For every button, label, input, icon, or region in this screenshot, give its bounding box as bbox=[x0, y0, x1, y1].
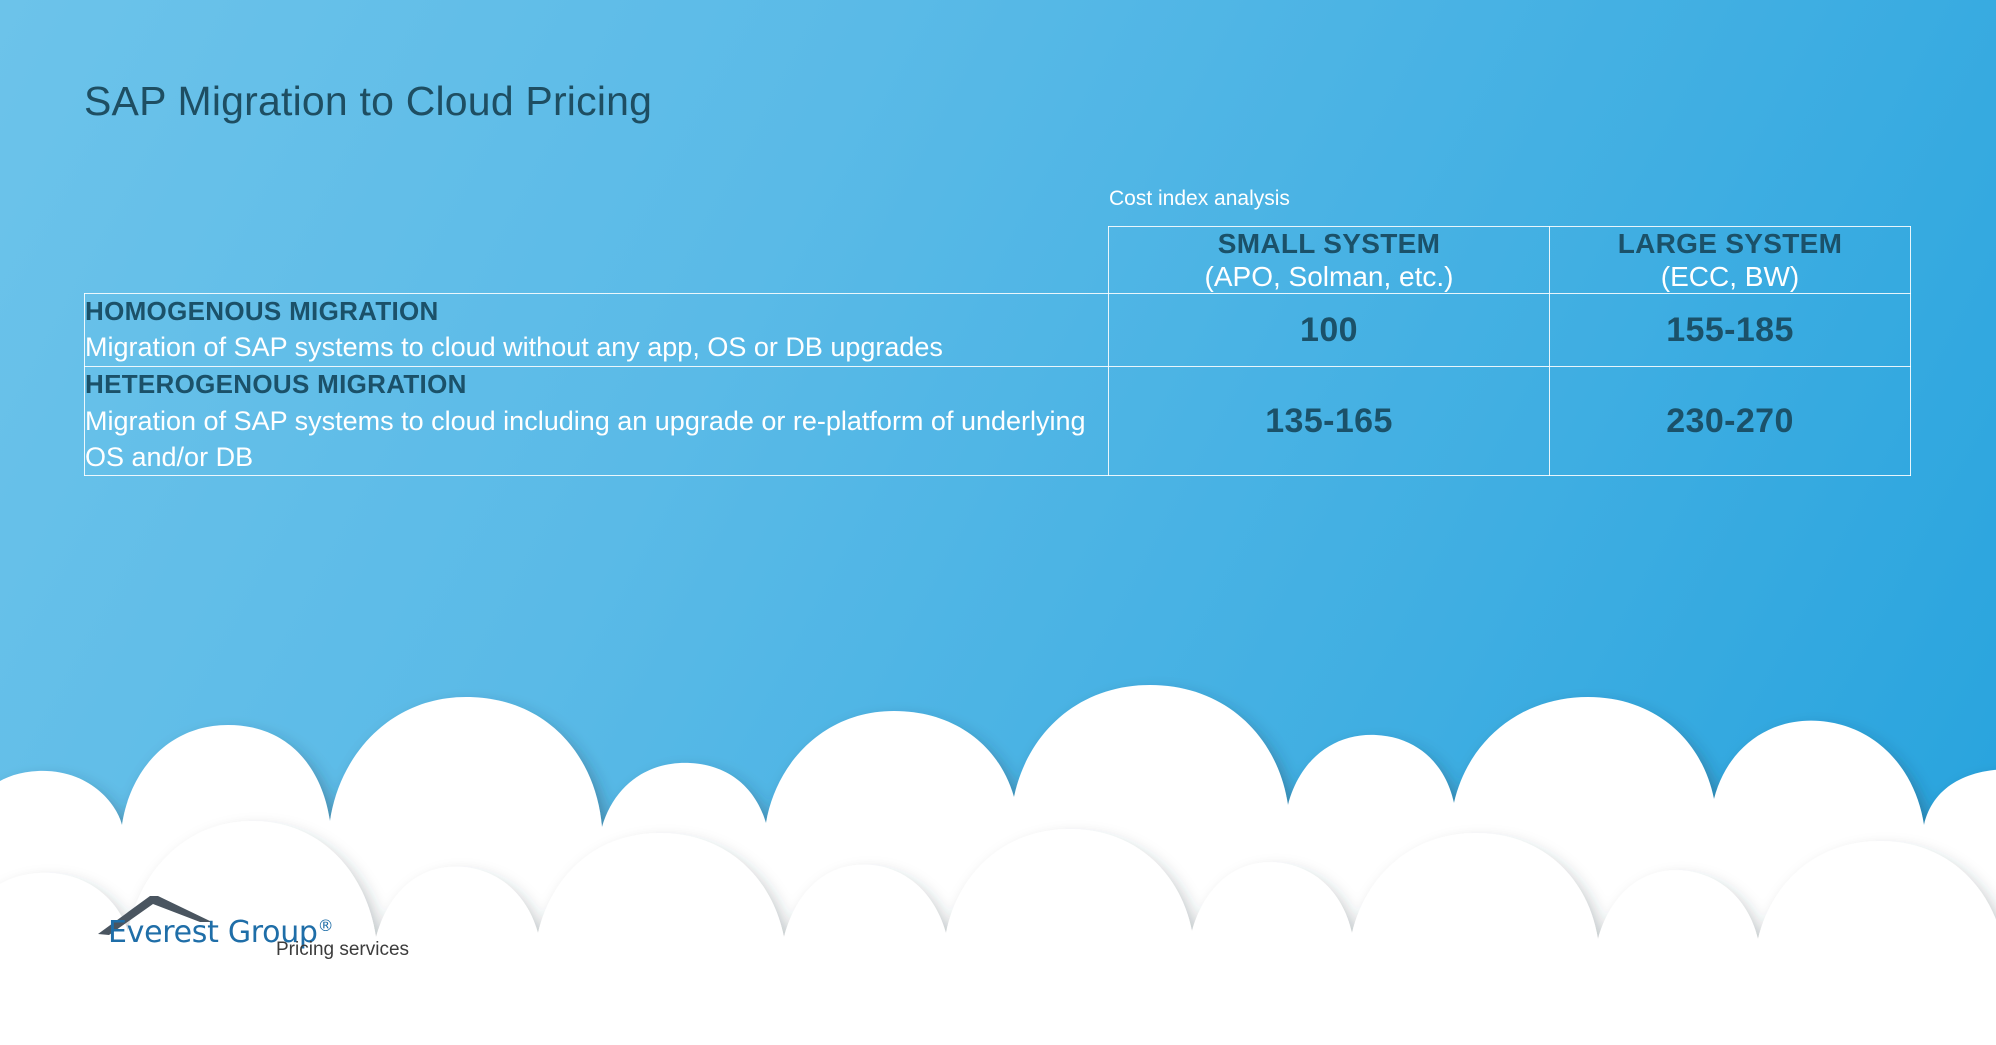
cost-index-caption: Cost index analysis bbox=[1109, 187, 1290, 211]
row-homogenous-description-cell: HOMOGENOUS MIGRATION Migration of SAP sy… bbox=[85, 294, 1109, 367]
table-row: HOMOGENOUS MIGRATION Migration of SAP sy… bbox=[85, 294, 1911, 367]
row-homogenous-small-system-value: 100 bbox=[1109, 294, 1550, 367]
page-title: SAP Migration to Cloud Pricing bbox=[84, 78, 652, 125]
logo-tagline: Pricing services bbox=[276, 939, 409, 961]
column-header-small-system: SMALL SYSTEM (APO, Solman, etc.) bbox=[1109, 227, 1550, 294]
column-header-small-system-subtitle: (APO, Solman, etc.) bbox=[1109, 260, 1549, 293]
table-row: HETEROGENOUS MIGRATION Migration of SAP … bbox=[85, 367, 1911, 476]
pricing-table: SMALL SYSTEM (APO, Solman, etc.) LARGE S… bbox=[84, 226, 1911, 476]
logo-mark-wrapper: Everest Group® bbox=[96, 890, 266, 965]
row-homogenous-description: Migration of SAP systems to cloud withou… bbox=[85, 330, 1108, 366]
column-header-small-system-title: SMALL SYSTEM bbox=[1109, 227, 1549, 260]
registered-trademark-icon: ® bbox=[318, 916, 334, 935]
table-header-row: SMALL SYSTEM (APO, Solman, etc.) LARGE S… bbox=[85, 227, 1911, 294]
table-corner-blank bbox=[85, 227, 1109, 294]
row-heterogenous-description-cell: HETEROGENOUS MIGRATION Migration of SAP … bbox=[85, 367, 1109, 476]
row-homogenous-title: HOMOGENOUS MIGRATION bbox=[85, 294, 1108, 328]
slide-canvas: SAP Migration to Cloud Pricing Cost inde… bbox=[0, 0, 1996, 1045]
column-header-large-system-title: LARGE SYSTEM bbox=[1550, 227, 1910, 260]
row-heterogenous-description: Migration of SAP systems to cloud includ… bbox=[85, 404, 1108, 476]
column-header-large-system-subtitle: (ECC, BW) bbox=[1550, 260, 1910, 293]
sky-background bbox=[0, 0, 1996, 1045]
row-homogenous-large-system-value: 155-185 bbox=[1550, 294, 1911, 367]
column-header-large-system: LARGE SYSTEM (ECC, BW) bbox=[1550, 227, 1911, 294]
row-heterogenous-large-system-value: 230-270 bbox=[1550, 367, 1911, 476]
everest-group-logo: Everest Group® Pricing services bbox=[96, 890, 409, 965]
row-heterogenous-small-system-value: 135-165 bbox=[1109, 367, 1550, 476]
row-heterogenous-title: HETEROGENOUS MIGRATION bbox=[85, 367, 1108, 401]
